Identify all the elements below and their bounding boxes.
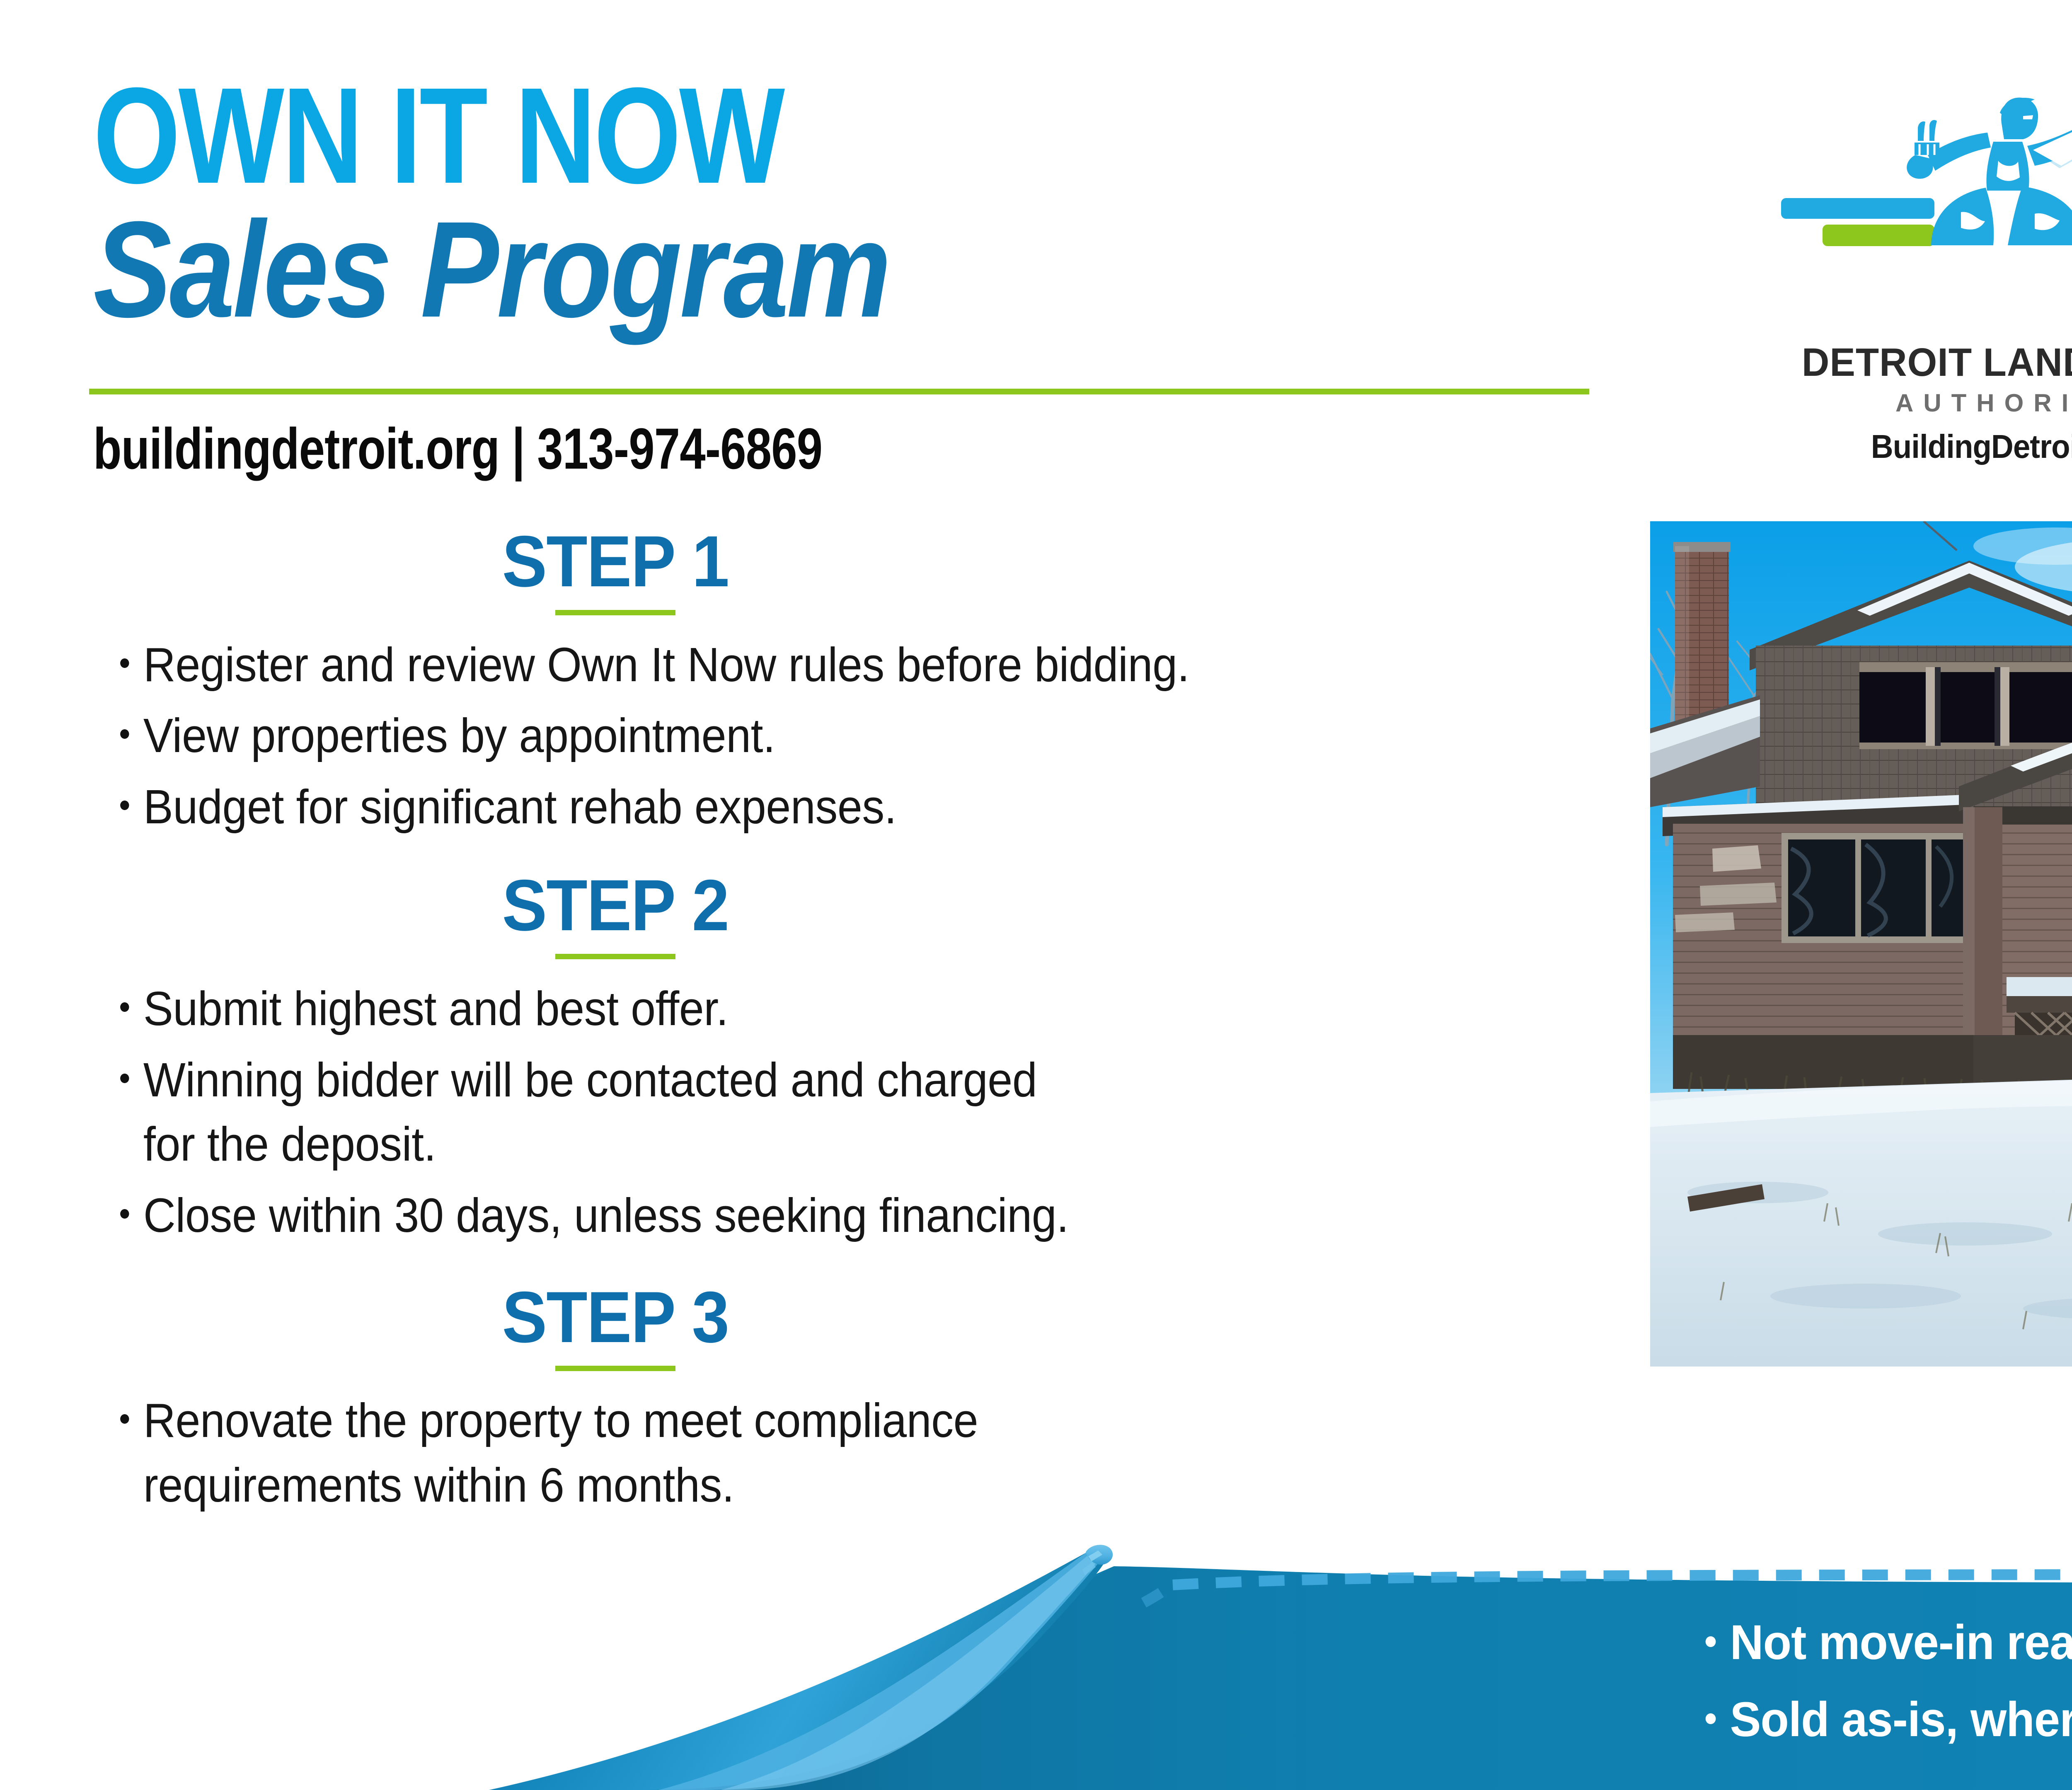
list-item: View properties by appointment.: [93, 704, 1385, 768]
page-title-primary: OWN IT NOW: [93, 73, 1317, 198]
step-1-heading-wrap: STEP 1: [93, 520, 1138, 615]
list-item: Not move-in ready: [1703, 1618, 2072, 1667]
ribbon-notes-list: Not move-in ready Sold as-is, where-is: [1703, 1618, 2072, 1772]
step-2-underline: [555, 954, 675, 959]
logo-website: BuildingDetroit.org: [1786, 428, 2072, 466]
step-1-underline: [555, 610, 675, 615]
step-3-underline: [555, 1366, 675, 1371]
spacer-1: [93, 846, 1593, 864]
step-1-heading: STEP 1: [502, 520, 729, 603]
step-2-heading: STEP 2: [502, 864, 729, 947]
list-item: Close within 30 days, unless seeking fin…: [93, 1183, 1385, 1248]
logo-name-line2: AUTHORITY: [1769, 389, 2072, 417]
list-item: Sold as-is, where-is: [1703, 1695, 2072, 1744]
step-3-heading-wrap: STEP 3: [93, 1276, 1138, 1371]
step-block-2: STEP 2 Submit highest and best offer. Wi…: [93, 864, 1593, 1248]
property-photo: [1650, 521, 2072, 1367]
list-item: Register and review Own It Now rules bef…: [93, 633, 1385, 697]
step-2-heading-wrap: STEP 2: [93, 864, 1138, 959]
steps-column: STEP 1 Register and review Own It Now ru…: [93, 520, 1593, 1524]
list-item: Submit highest and best offer.: [93, 977, 1385, 1041]
dlba-logo: DETROIT LAND BANK AUTHORITY BuildingDetr…: [1769, 66, 2072, 456]
step-1-bullet-list: Register and review Own It Now rules bef…: [93, 633, 1593, 839]
spirit-of-detroit-icon: [1769, 66, 2072, 331]
headline-block: OWN IT NOW Sales Program: [93, 73, 1585, 338]
step-block-1: STEP 1 Register and review Own It Now ru…: [93, 520, 1593, 839]
contact-line[interactable]: buildingdetroit.org | 313-974-6869: [93, 415, 822, 482]
list-item: Winning bidder will be contacted and cha…: [93, 1048, 1087, 1177]
page-title-secondary: Sales Program: [93, 201, 1376, 338]
logo-name-line1: DETROIT LAND BANK: [1779, 340, 2072, 385]
list-item: Budget for significant rehab expenses.: [93, 775, 1385, 839]
title-divider-rule: [89, 389, 1589, 394]
spacer-2: [93, 1254, 1593, 1276]
step-3-heading: STEP 3: [502, 1276, 729, 1359]
step-2-bullet-list: Submit highest and best offer. Winning b…: [93, 977, 1593, 1248]
